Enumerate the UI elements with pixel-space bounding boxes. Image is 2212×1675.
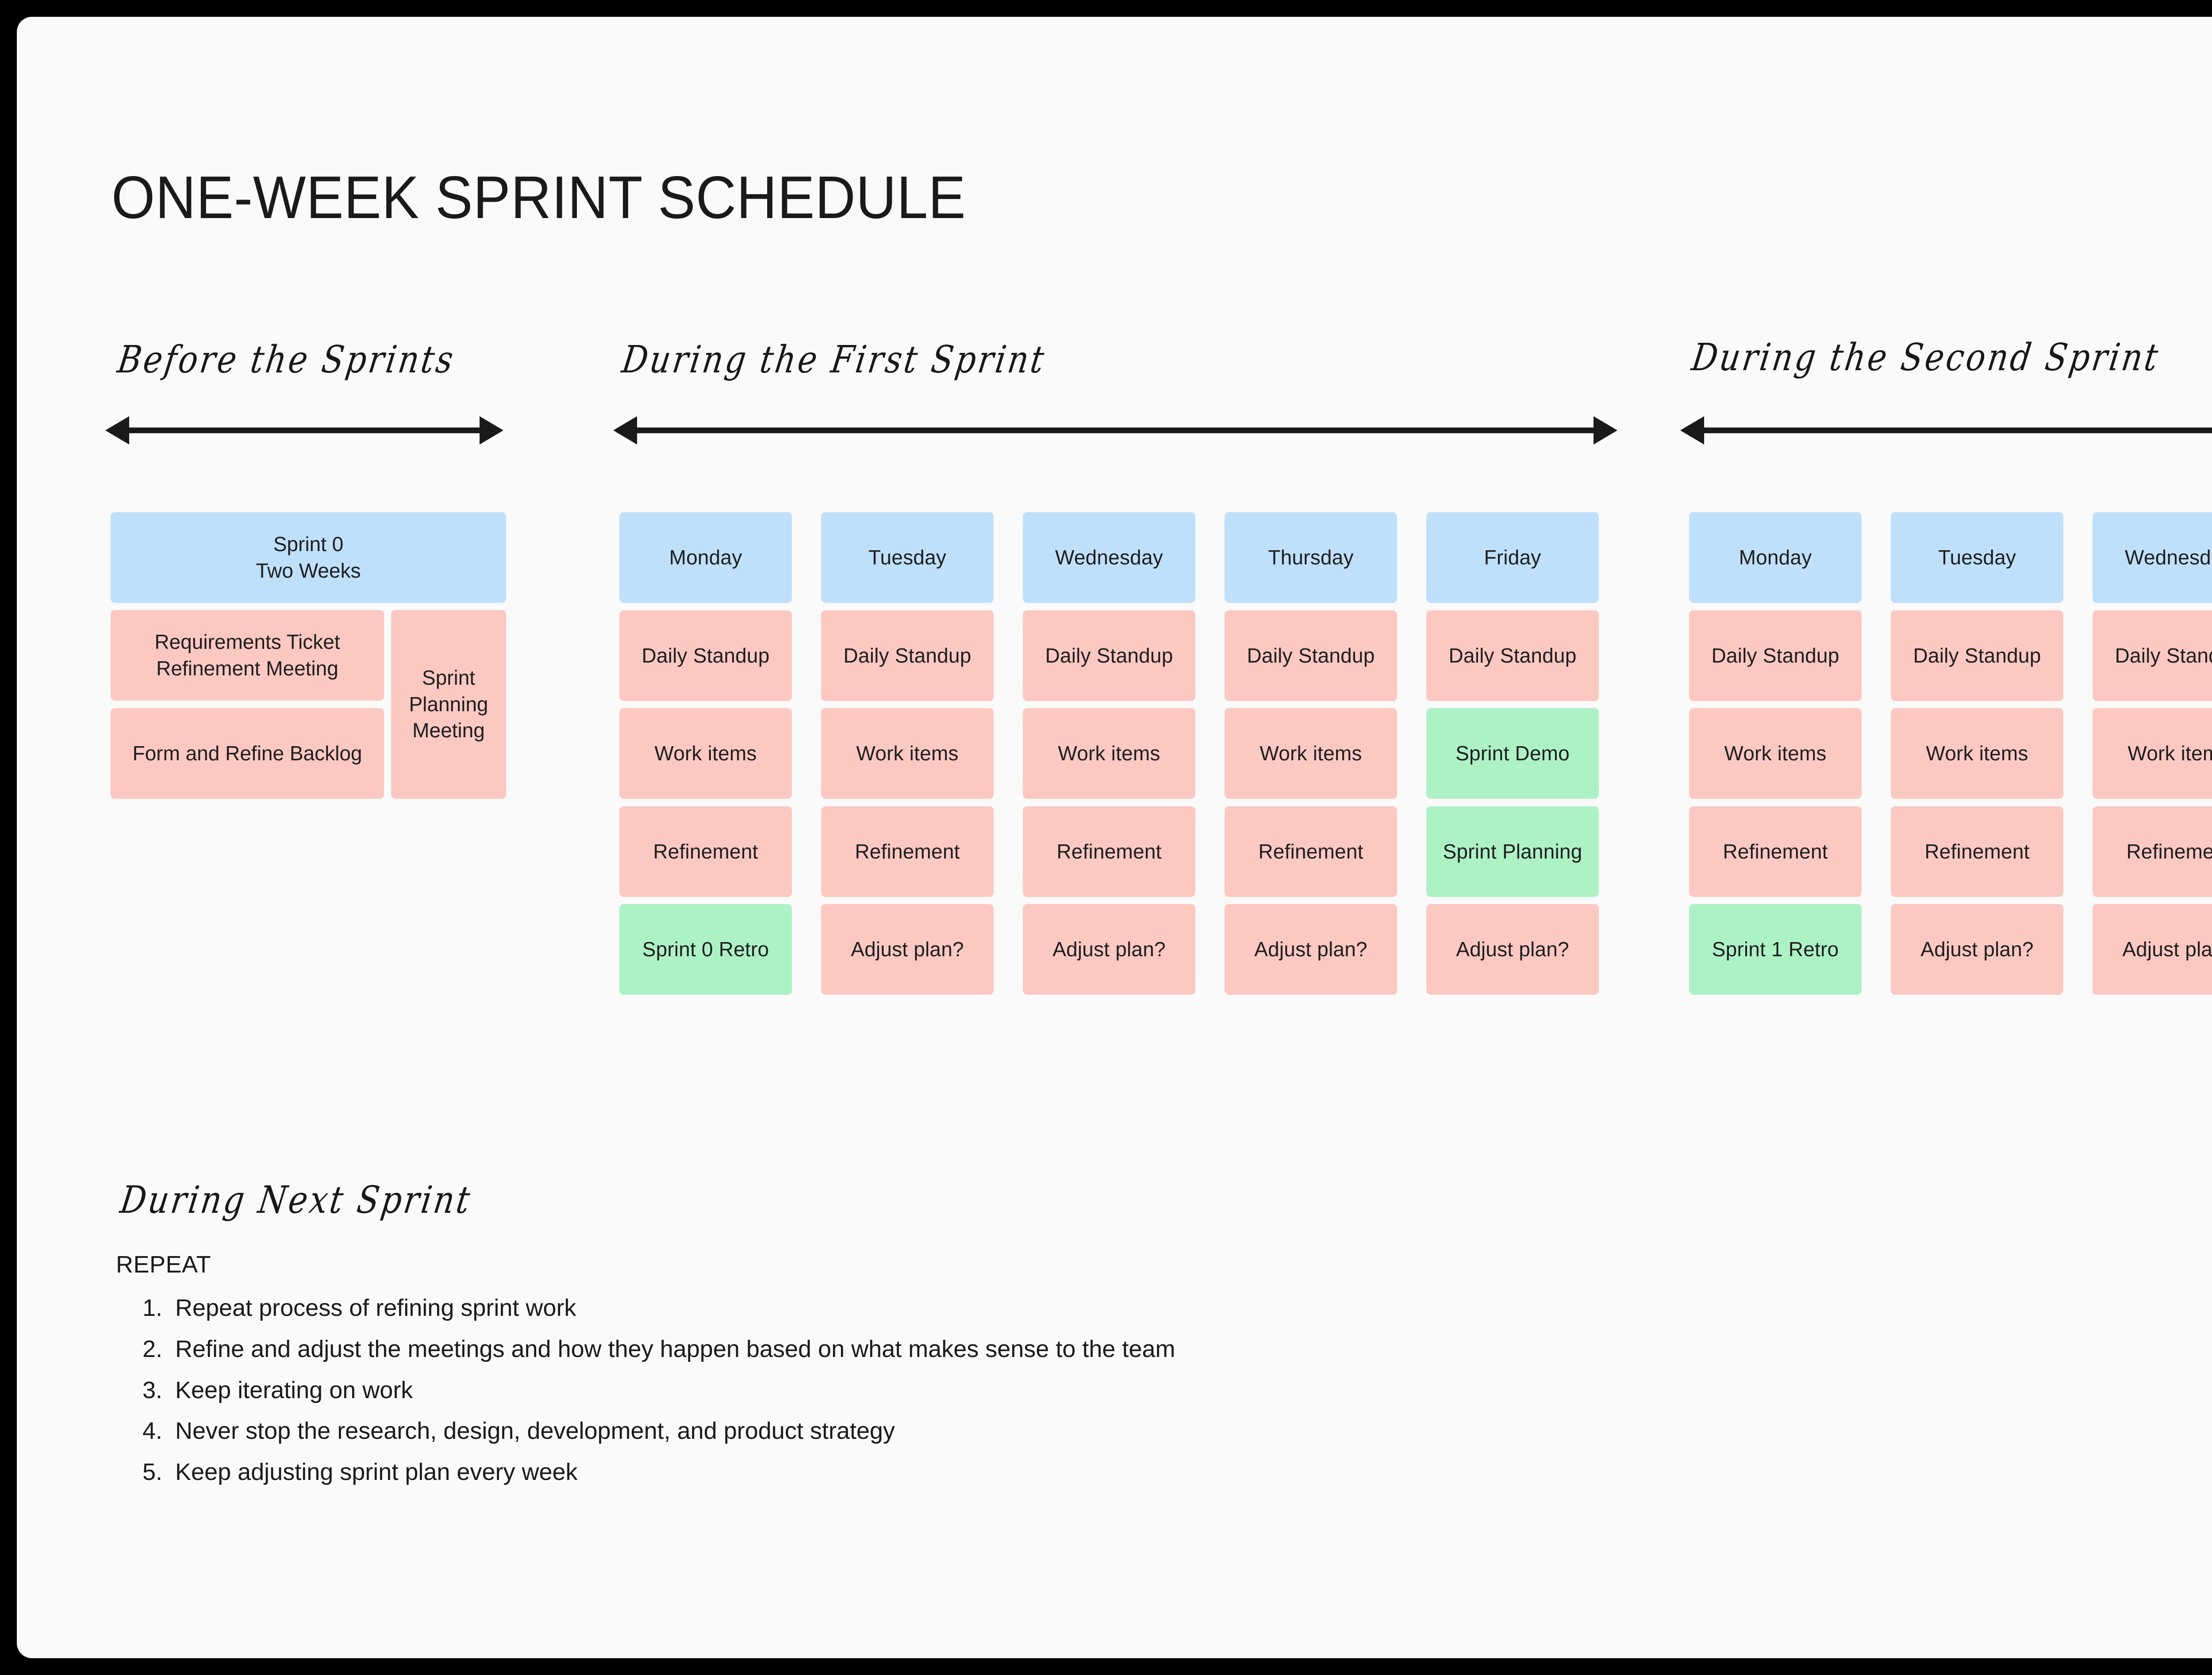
day-header-label: Wednesday — [2125, 544, 2212, 571]
day-header-monday[interactable]: Monday — [1689, 512, 1862, 603]
cell-work-items[interactable]: Work items — [1689, 708, 1862, 799]
group-first-sprint: MondayDaily StandupWork itemsRefinementS… — [619, 512, 1619, 981]
section-label-during-the-second-sprint: During the Second Sprint — [1689, 335, 2163, 379]
cell-label: Refinement — [1924, 839, 2029, 865]
cell-refinement[interactable]: Refinement — [1891, 806, 2063, 897]
repeat-list-item: Keep iterating on work — [169, 1373, 1363, 1408]
day-column-thursday: ThursdayDaily StandupWork itemsRefinemen… — [1225, 512, 1397, 981]
cell-work-items[interactable]: Work items — [619, 708, 792, 799]
day-header-label: Tuesday — [1938, 544, 2016, 571]
day-header-friday[interactable]: Friday — [1426, 512, 1599, 603]
cell-daily-standup[interactable]: Daily Standup — [2093, 610, 2212, 701]
cell-sprint-planning-meeting[interactable]: Sprint Planning Meeting — [391, 610, 506, 799]
cell-sprint-1-retro[interactable]: Sprint 1 Retro — [1689, 904, 1862, 995]
day-header-label: Friday — [1484, 544, 1541, 571]
cell-sprint-0-line2: Two Weeks — [256, 558, 361, 584]
cell-adjust-plan[interactable]: Adjust plan? — [821, 904, 994, 995]
day-header-label: Monday — [1739, 544, 1812, 571]
cell-label: Requirements Ticket Refinement Meeting — [117, 629, 378, 682]
cell-adjust-plan[interactable]: Adjust plan? — [2093, 904, 2212, 995]
cell-label: Sprint Demo — [1455, 740, 1570, 767]
cell-refinement[interactable]: Refinement — [2093, 806, 2212, 897]
cell-form-and-refine-backlog[interactable]: Form and Refine Backlog — [111, 708, 384, 799]
cell-label: Refinement — [1723, 839, 1828, 865]
cell-adjust-plan[interactable]: Adjust plan? — [1023, 904, 1195, 995]
page-title: ONE-WEEK SPRINT SCHEDULE — [111, 163, 966, 232]
cell-label: Adjust plan? — [851, 936, 964, 962]
cell-label: Daily Standup — [1712, 643, 1839, 669]
cell-label: Daily Standup — [1449, 643, 1577, 669]
cell-refinement[interactable]: Refinement — [619, 806, 792, 897]
cell-label: Work items — [856, 740, 958, 767]
cell-work-items[interactable]: Work items — [1891, 708, 2063, 799]
cell-adjust-plan[interactable]: Adjust plan? — [1225, 904, 1397, 995]
day-header-wednesday[interactable]: Wednesday — [1023, 512, 1195, 603]
cell-label: Daily Standup — [2115, 643, 2212, 669]
cell-label: Sprint 1 Retro — [1712, 936, 1839, 962]
cell-daily-standup[interactable]: Daily Standup — [619, 610, 792, 701]
cell-refinement[interactable]: Refinement — [1689, 806, 1862, 897]
cell-label: Daily Standup — [1247, 643, 1375, 669]
cell-refinement[interactable]: Refinement — [1023, 806, 1195, 897]
diagram-canvas: ONE-WEEK SPRINT SCHEDULE Before the Spri… — [17, 17, 2212, 1658]
timeline-arrow-before — [105, 413, 503, 448]
cell-label: Sprint Planning Meeting — [397, 665, 500, 744]
cell-sprint-0-line1: Sprint 0 — [273, 531, 344, 558]
day-column-wednesday: WednesdayDaily StandupWork itemsRefineme… — [1023, 512, 1195, 981]
group-second-sprint: MondayDaily StandupWork itemsRefinementS… — [1689, 512, 2212, 981]
section-label-during-next-sprint: During Next Sprint — [118, 1178, 475, 1222]
cell-label: Form and Refine Backlog — [132, 740, 362, 767]
cell-label: Adjust plan? — [2122, 936, 2212, 962]
day-column-wednesday: WednesdayDaily StandupWork itemsRefineme… — [2093, 512, 2212, 981]
group-before-the-sprints: Sprint 0 Two Weeks Requirements Ticket R… — [111, 512, 509, 760]
day-column-friday: FridayDaily StandupSprint DemoSprint Pla… — [1426, 512, 1599, 981]
day-column-tuesday: TuesdayDaily StandupWork itemsRefinement… — [1891, 512, 2063, 981]
section-label-during-the-first-sprint: During the First Sprint — [619, 337, 1049, 381]
cell-label: Work items — [1926, 740, 2028, 767]
timeline-arrow-second-sprint — [1680, 413, 2212, 448]
repeat-list-item: Refine and adjust the meetings and how t… — [169, 1332, 1363, 1367]
cell-label: Sprint 0 Retro — [642, 936, 769, 962]
cell-label: Daily Standup — [1913, 643, 2041, 669]
cell-sprint-0-retro[interactable]: Sprint 0 Retro — [619, 904, 792, 995]
day-header-wednesday[interactable]: Wednesday — [2093, 512, 2212, 603]
repeat-list-item: Never stop the research, design, develop… — [169, 1414, 1363, 1449]
cell-daily-standup[interactable]: Daily Standup — [1225, 610, 1397, 701]
day-column-monday: MondayDaily StandupWork itemsRefinementS… — [1689, 512, 1862, 981]
cell-work-items[interactable]: Work items — [2093, 708, 2212, 799]
cell-label: Work items — [654, 740, 757, 767]
cell-sprint-demo[interactable]: Sprint Demo — [1426, 708, 1599, 799]
cell-label: Work items — [1260, 740, 1362, 767]
cell-label: Adjust plan? — [1920, 936, 2034, 962]
day-header-label: Wednesday — [1055, 544, 1163, 571]
day-header-tuesday[interactable]: Tuesday — [1891, 512, 2063, 603]
day-header-tuesday[interactable]: Tuesday — [821, 512, 994, 603]
timeline-arrow-first-sprint — [613, 413, 1617, 448]
cell-label: Daily Standup — [844, 643, 972, 669]
cell-work-items[interactable]: Work items — [1225, 708, 1397, 799]
cell-adjust-plan[interactable]: Adjust plan? — [1426, 904, 1599, 995]
cell-work-items[interactable]: Work items — [1023, 708, 1195, 799]
cell-label: Adjust plan? — [1052, 936, 1166, 962]
repeat-list: Repeat process of refining sprint workRe… — [116, 1291, 1363, 1496]
day-header-label: Monday — [669, 544, 742, 571]
section-label-before-the-sprints: Before the Sprints — [115, 337, 458, 381]
day-header-thursday[interactable]: Thursday — [1225, 512, 1397, 603]
day-header-monday[interactable]: Monday — [619, 512, 792, 603]
cell-label: Adjust plan? — [1254, 936, 1367, 962]
cell-sprint-planning[interactable]: Sprint Planning — [1426, 806, 1599, 897]
cell-label: Refinement — [1056, 839, 1161, 865]
cell-label: Work items — [1724, 740, 1826, 767]
cell-daily-standup[interactable]: Daily Standup — [1426, 610, 1599, 701]
cell-label: Adjust plan? — [1456, 936, 1569, 962]
cell-daily-standup[interactable]: Daily Standup — [821, 610, 994, 701]
cell-label: Refinement — [653, 839, 758, 865]
cell-label: Refinement — [855, 839, 960, 865]
day-header-label: Tuesday — [868, 544, 946, 571]
cell-label: Work items — [1058, 740, 1160, 767]
cell-adjust-plan[interactable]: Adjust plan? — [1891, 904, 2063, 995]
cell-requirements-ticket-refinement-meeting[interactable]: Requirements Ticket Refinement Meeting — [111, 610, 384, 701]
cell-refinement[interactable]: Refinement — [1225, 806, 1397, 897]
cell-label: Daily Standup — [1045, 643, 1173, 669]
cell-label: Refinement — [2126, 839, 2212, 865]
cell-sprint-0[interactable]: Sprint 0 Two Weeks — [111, 512, 506, 603]
cell-work-items[interactable]: Work items — [821, 708, 994, 799]
repeat-list-item: Repeat process of refining sprint work — [169, 1291, 1363, 1326]
cell-label: Daily Standup — [642, 643, 770, 669]
cell-daily-standup[interactable]: Daily Standup — [1891, 610, 2063, 701]
cell-label: Refinement — [1258, 839, 1363, 865]
repeat-list-item: Keep adjusting sprint plan every week — [169, 1455, 1363, 1490]
day-column-monday: MondayDaily StandupWork itemsRefinementS… — [619, 512, 792, 981]
repeat-heading: REPEAT — [116, 1251, 211, 1278]
cell-refinement[interactable]: Refinement — [821, 806, 994, 897]
cell-label: Work items — [2128, 740, 2212, 767]
day-header-label: Thursday — [1268, 544, 1353, 571]
cell-daily-standup[interactable]: Daily Standup — [1689, 610, 1862, 701]
cell-daily-standup[interactable]: Daily Standup — [1023, 610, 1195, 701]
cell-label: Sprint Planning — [1443, 839, 1582, 865]
day-column-tuesday: TuesdayDaily StandupWork itemsRefinement… — [821, 512, 994, 981]
